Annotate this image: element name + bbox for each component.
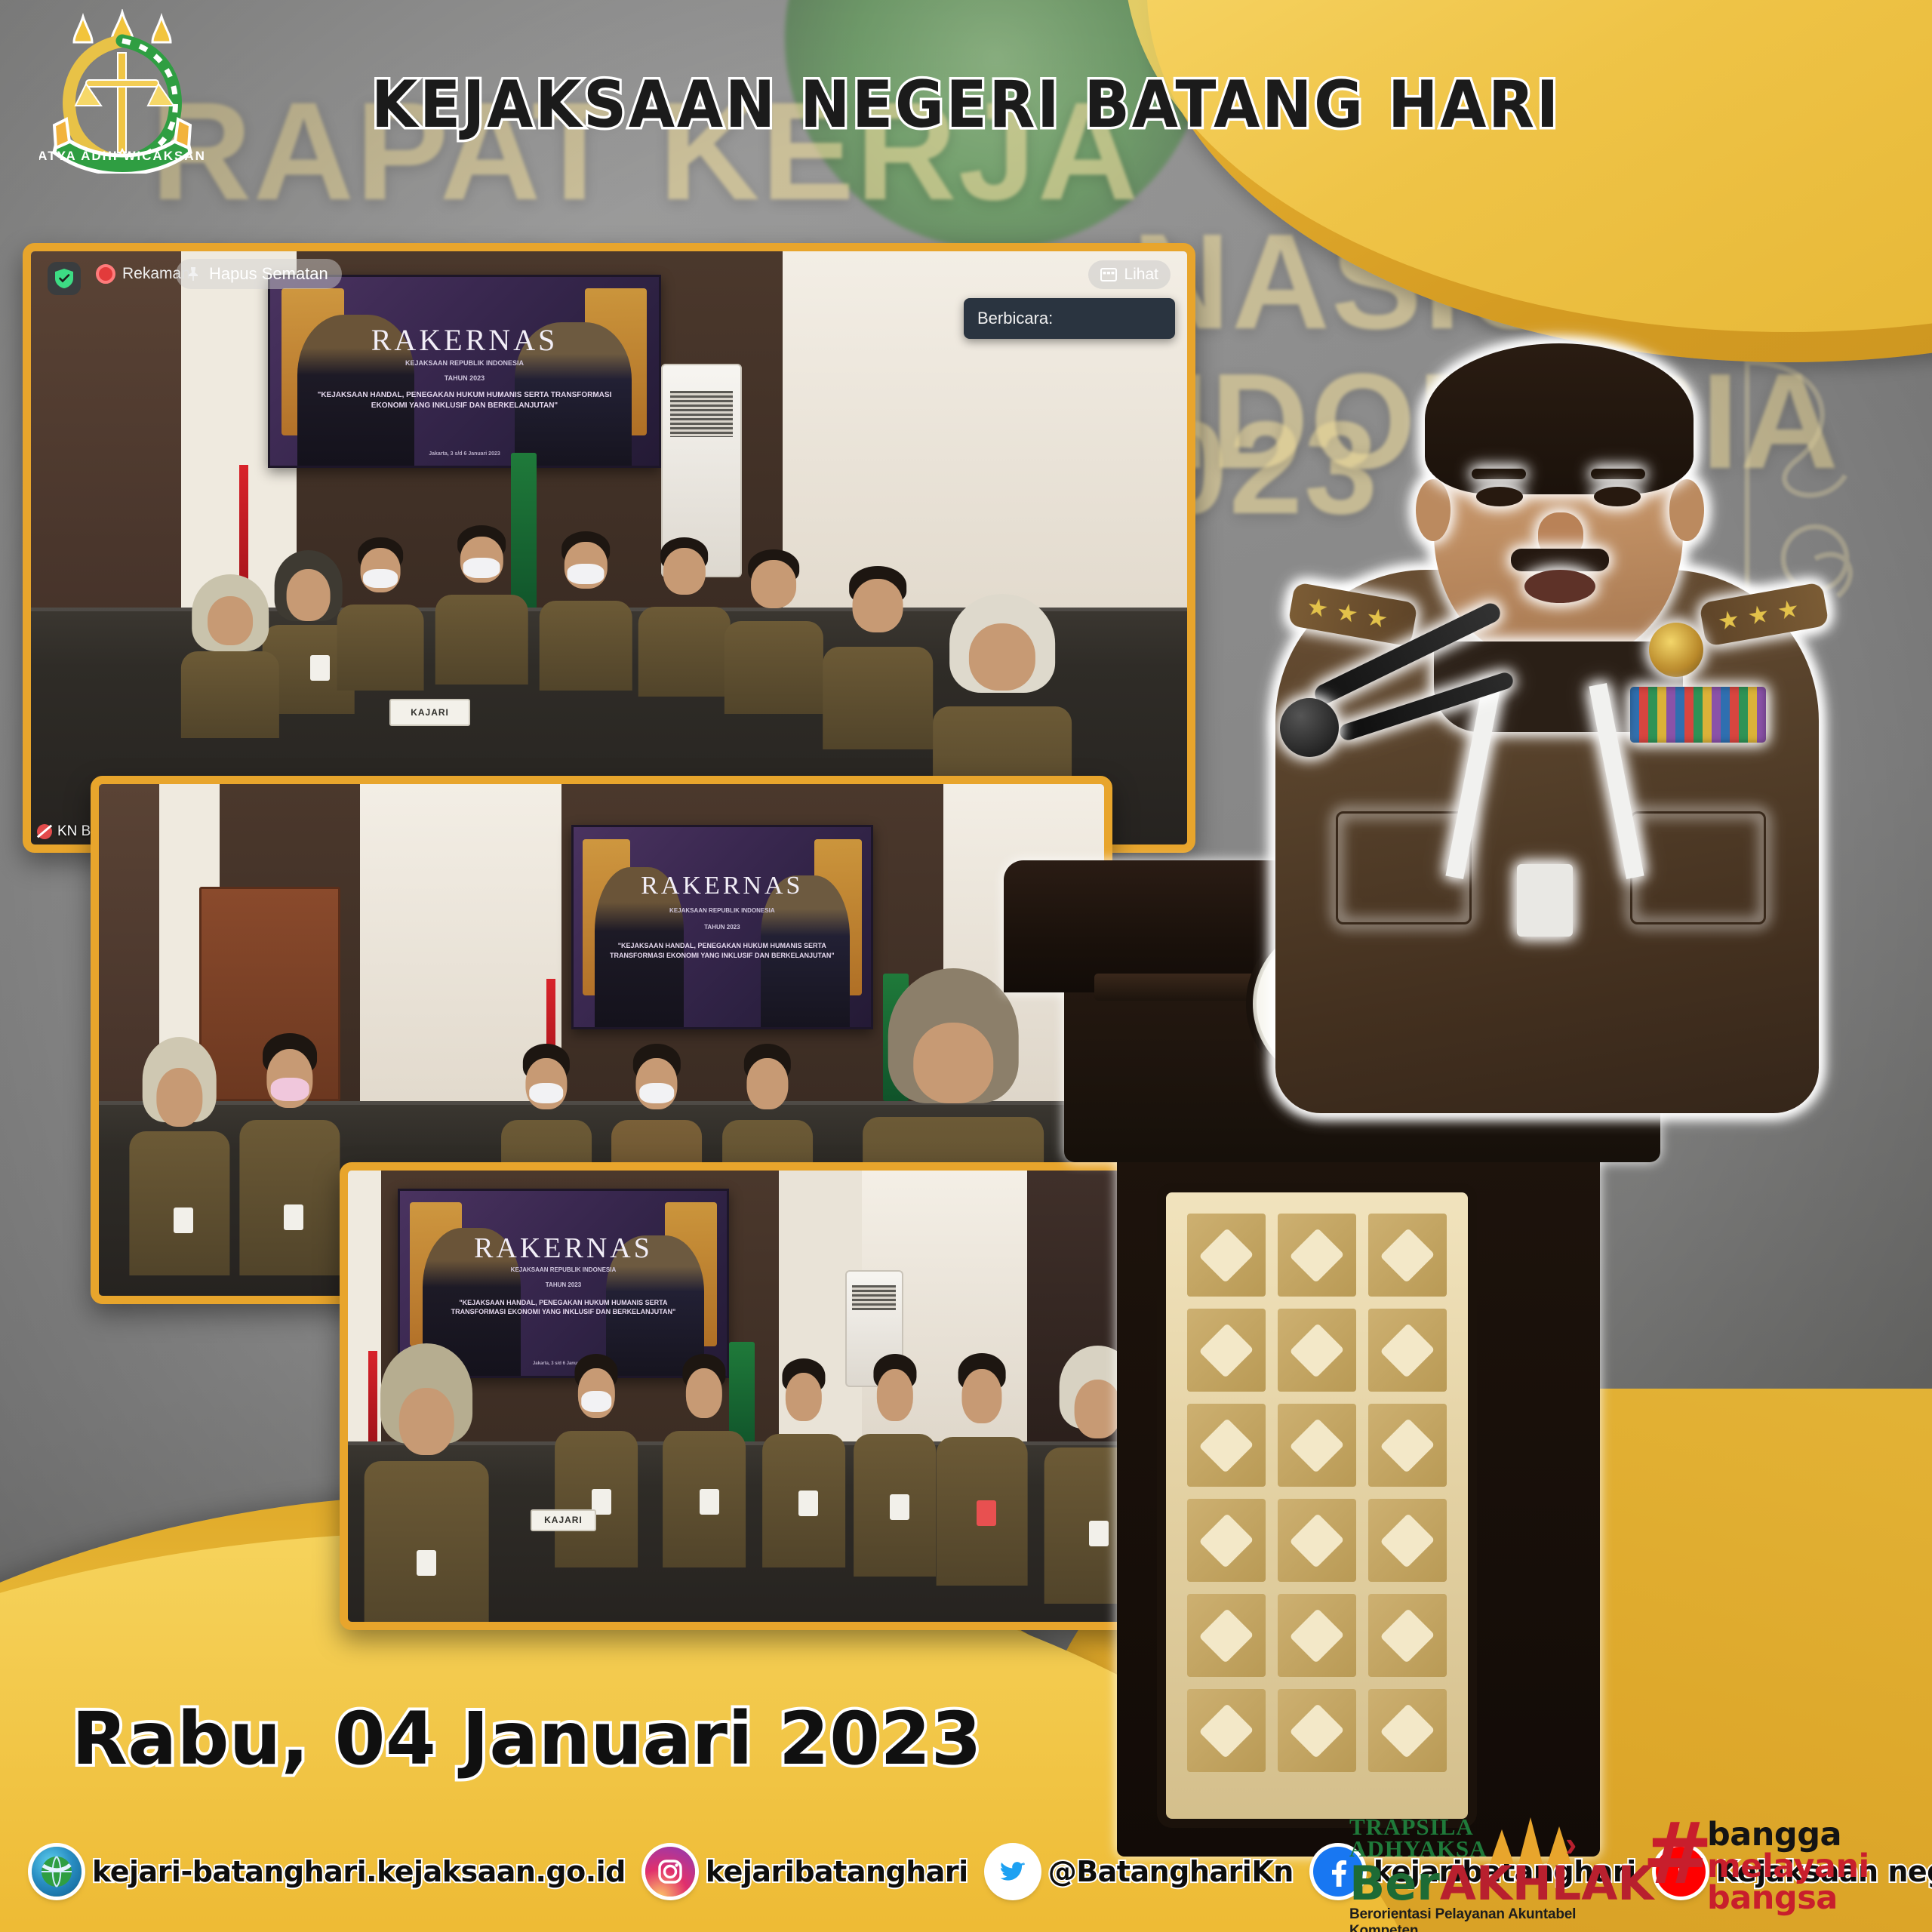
record-stop-icon [96, 264, 115, 284]
view-button[interactable]: Lihat [1088, 260, 1171, 289]
twitter-label: @BatanghariKn [1048, 1855, 1294, 1888]
unpin-button[interactable]: Hapus Sematan [176, 259, 342, 289]
rakernas-title-3: RAKERNAS [474, 1232, 653, 1265]
social-instagram[interactable]: kejaribatanghari [645, 1847, 968, 1897]
speaking-indicator: Berbicara: [964, 298, 1175, 339]
page-title-text: KEJAKSAAN NEGERI BATANG HARI [371, 67, 1561, 143]
rakernas-title-2: RAKERNAS [641, 872, 803, 900]
rakernas-tagline: "KEJAKSAAN HANDAL, PENEGAKAN HUKUM HUMAN… [317, 390, 612, 411]
social-website[interactable]: kejari-batanghari.kejaksaan.go.id [32, 1847, 626, 1897]
mic-muted-icon [37, 824, 52, 839]
svg-text:SATYA ADHI WICAKSANA: SATYA ADHI WICAKSANA [39, 149, 205, 163]
bangga-word3: bangsa [1707, 1882, 1838, 1915]
chevron-right-icon: › [1565, 1823, 1577, 1864]
rakernas-subtitle-3: KEJAKSAAN REPUBLIK INDONESIA [417, 1266, 711, 1275]
website-label: kejari-batanghari.kejaksaan.go.id [92, 1855, 626, 1888]
rakernas-subtitle: KEJAKSAAN REPUBLIK INDONESIA [290, 358, 639, 368]
social-twitter[interactable]: @BatanghariKn [988, 1847, 1294, 1897]
rakernas-place: Jakarta, 3 s/d 6 Januari 2023 [309, 451, 620, 457]
trapsila-peaks-icon [1490, 1817, 1571, 1864]
berakhlak-ber: Ber [1349, 1856, 1440, 1911]
berakhlak-logo: TRAPSILA ADHYAKSA › BerAKHLAK Berorienta… [1349, 1816, 1621, 1921]
rakernas-subtitle-2: KEJAKSAAN REPUBLIK INDONESIA [589, 907, 856, 915]
rakernas-year: TAHUN 2023 [290, 374, 639, 383]
photo-zoom-meeting[interactable]: RAKERNAS KEJAKSAAN REPUBLIK INDONESIA TA… [23, 243, 1195, 853]
trapsila-line1: TRAPSILA [1349, 1816, 1621, 1838]
instagram-icon [645, 1847, 695, 1897]
event-date: Rabu, 04 Januari 2023 [72, 1697, 982, 1781]
uniform-ribbon-bar [1630, 687, 1766, 743]
uniform-medal [1649, 623, 1703, 677]
rakernas-year-3: TAHUN 2023 [417, 1281, 711, 1290]
hashtag-icon: # [1642, 1820, 1713, 1890]
layout-grid-icon [1100, 267, 1117, 282]
unpin-label: Hapus Sematan [209, 264, 328, 284]
kajari-nameplate: KAJARI [389, 699, 470, 725]
footer-bar: kejari-batanghari.kejaksaan.go.id kejari… [0, 1811, 1932, 1932]
pin-icon [185, 266, 202, 282]
twitter-icon [988, 1847, 1038, 1897]
view-label: Lihat [1124, 266, 1158, 284]
rakernas-year-2: TAHUN 2023 [589, 924, 856, 932]
poster-canvas: RAPAT KERJA NASIONAL 2023 HUKUM HU SIF D… [0, 0, 1932, 1932]
shield-check-icon[interactable] [48, 262, 81, 295]
microphone-icon [1280, 698, 1339, 757]
speaking-label: Berbicara: [977, 309, 1053, 328]
bangga-melayani-bangsa-logo: # bangga melayani bangsa [1642, 1817, 1891, 1915]
bangga-word1: bangga [1707, 1819, 1841, 1851]
website-globe-icon [32, 1847, 82, 1897]
rakernas-title: RAKERNAS [371, 322, 558, 358]
instagram-label: kejaribatanghari [706, 1855, 968, 1888]
rakernas-tagline-2: "KEJAKSAAN HANDAL, PENEGAKAN HUKUM HUMAN… [606, 941, 838, 959]
rakernas-banner-2: RAKERNAS KEJAKSAAN REPUBLIK INDONESIA TA… [571, 825, 873, 1029]
speaker-cutout [1207, 343, 1887, 1815]
meeting-room-scene: RAKERNAS KEJAKSAAN REPUBLIK INDONESIA TA… [31, 251, 1187, 844]
kajari-nameplate-3: KAJARI [531, 1509, 597, 1532]
rakernas-banner: RAKERNAS KEJAKSAAN REPUBLIK INDONESIA TA… [268, 275, 661, 467]
id-card [1517, 864, 1573, 937]
bangga-word2: melayani [1707, 1850, 1869, 1883]
rakernas-tagline-3: "KEJAKSAAN HANDAL, PENEGAKAN HUKUM HUMAN… [436, 1298, 691, 1316]
page-title: KEJAKSAAN NEGERI BATANG HARI [77, 72, 1854, 137]
